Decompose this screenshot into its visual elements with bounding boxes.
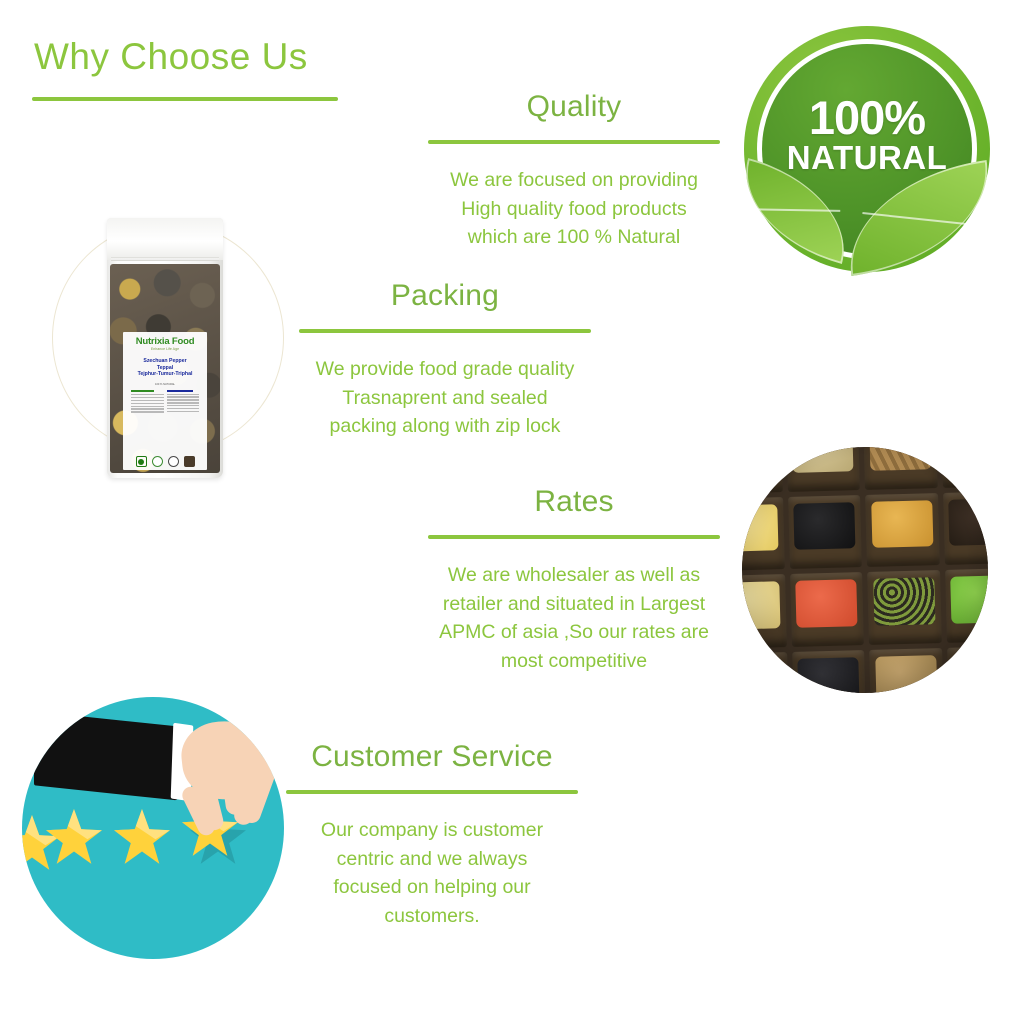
section-customer-service-line-4: customers. [286,902,578,931]
section-quality-underline [428,140,720,144]
section-customer-service-line-1: Our company is customer [286,816,578,845]
section-quality-line-2: High quality food products [428,195,720,224]
section-customer-service-underline [286,790,578,794]
section-customer-service-line-3: focused on helping our [286,873,578,902]
spice-market-photo [742,447,988,693]
page-title-underline [32,97,338,101]
section-rates-title: Rates [428,487,720,517]
pouch-brand-name: Nutrixia Food [126,337,204,347]
leaf-icon [168,456,179,467]
section-packing-line-1: We provide food grade quality [299,355,591,384]
badge-percent-text: 100% [762,94,972,141]
section-quality-line-3: which are 100 % Natural [428,223,720,252]
section-packing: Packing We provide food grade quality Tr… [299,281,591,441]
section-rates-line-4: most competitive [428,647,720,676]
section-quality: Quality We are focused on providing High… [428,92,720,252]
veg-mark-icon [136,456,147,467]
section-rates-underline [428,535,720,539]
pouch-product-line-2: Teppal [126,365,204,372]
section-customer-service-body: Our company is customer centric and we a… [286,816,578,931]
section-quality-title: Quality [428,92,720,122]
pouch-product-line-1: Szechuan Pepper [126,358,204,365]
section-packing-line-3: packing along with zip lock [299,412,591,441]
section-rates: Rates We are wholesaler as well as retai… [428,487,720,676]
section-customer-service: Customer Service Our company is customer… [286,742,578,931]
customer-service-rating-illustration [22,697,284,959]
pouch-zip-lock [111,257,219,261]
pouch-label: Nutrixia Food Enhance Life Age Szechuan … [123,332,207,470]
rating-star-icon [22,815,60,871]
hundred-percent-natural-badge: 100% NATURAL [744,26,990,272]
section-packing-underline [299,329,591,333]
section-customer-service-title: Customer Service [286,742,578,772]
pouch-cert-icons [123,456,207,467]
page-title: Why Choose Us [34,38,308,75]
rating-star-icon [114,809,170,865]
section-packing-title: Packing [299,281,591,311]
infographic-page: Why Choose Us Quality We are focused on … [0,0,1024,1024]
section-customer-service-line-2: centric and we always [286,845,578,874]
pouch-fine-print-right [167,390,200,414]
fssai-icon [152,456,163,467]
section-rates-line-2: retailer and situated in Largest [428,590,720,619]
section-packing-body: We provide food grade quality Trasnapren… [299,355,591,441]
section-quality-line-1: We are focused on providing [428,166,720,195]
section-quality-body: We are focused on providing High quality… [428,166,720,252]
pouch-top-seal [107,218,223,260]
product-pouch-photo: Nutrixia Food Enhance Life Age Szechuan … [107,218,223,478]
suit-sleeve [34,711,180,800]
page-title-block: Why Choose Us [34,38,308,75]
pouch-net-text: 100 % NATURAL [126,383,204,386]
cow-icon [184,456,195,467]
section-packing-line-2: Trasnaprent and sealed [299,384,591,413]
pouch-fine-print-left [131,390,164,414]
pouch-body: Nutrixia Food Enhance Life Age Szechuan … [107,218,223,478]
pouch-fine-print [126,390,204,414]
pouch-product-line-3: Tejphur-Tumur-Triphal [126,371,204,378]
pouch-tagline: Enhance Life Age [126,348,204,352]
photo-vignette [742,447,988,693]
section-rates-body: We are wholesaler as well as retailer an… [428,561,720,676]
badge-text-block: 100% NATURAL [762,94,972,176]
section-rates-line-3: APMC of asia ,So our rates are [428,618,720,647]
section-rates-line-1: We are wholesaler as well as [428,561,720,590]
